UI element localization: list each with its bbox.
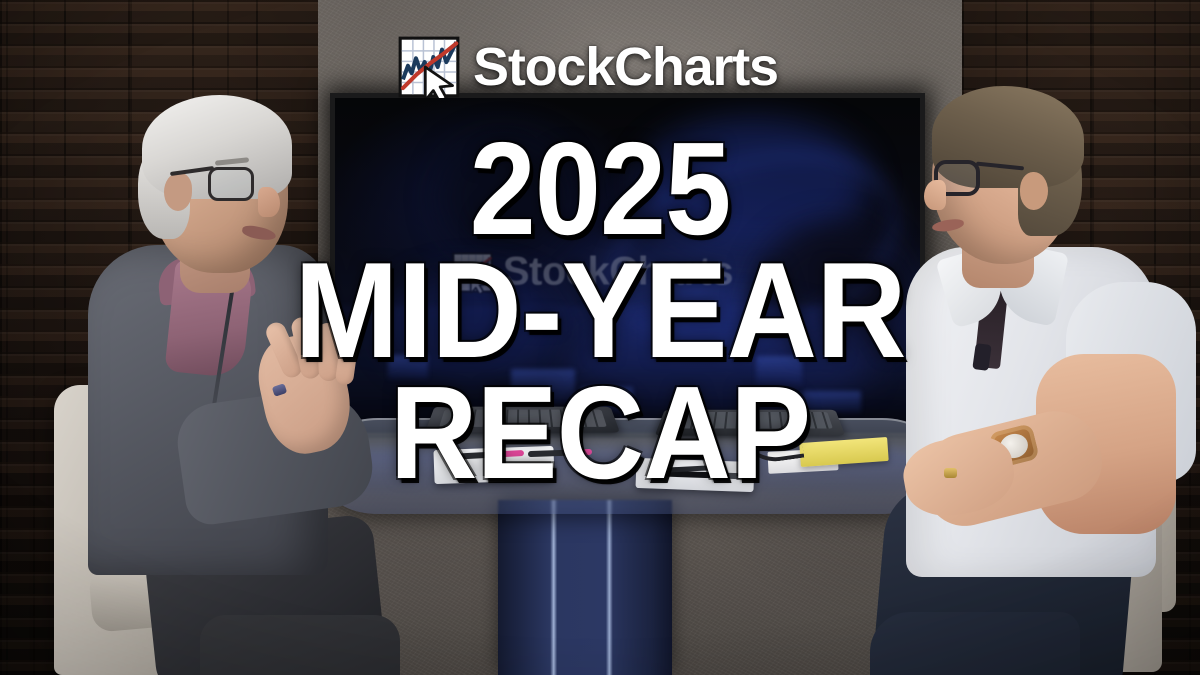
leg2-right-person: [870, 612, 1080, 675]
video-thumbnail-stage: StockCharts: [0, 0, 1200, 675]
glasses-lens-left: [208, 167, 254, 201]
ear-right: [1020, 172, 1048, 210]
stockcharts-logo-icon: [398, 36, 460, 98]
stockcharts-brand-lockup: StockCharts: [398, 36, 778, 98]
finger: [335, 334, 360, 386]
nose-left: [258, 187, 280, 217]
leg2-left-person: [200, 615, 400, 675]
wall-mounted-tv: StockCharts: [330, 93, 925, 438]
person-host-left: [30, 95, 360, 675]
screen-blur-blob: [440, 138, 570, 258]
wedding-ring: [944, 468, 957, 478]
person-guest-right: [870, 92, 1200, 675]
nose-right: [924, 180, 946, 210]
table-pedestal-base: [498, 500, 672, 675]
tv-screen: StockCharts: [335, 98, 920, 433]
laptop-left-keyboard: [439, 410, 607, 427]
stockcharts-logo-icon: [452, 251, 494, 293]
screen-monitor-blur: [756, 356, 802, 386]
screen-monitor-blur: [511, 369, 575, 403]
screen-watermark-text: StockCharts: [503, 250, 733, 295]
ear-left: [164, 173, 192, 211]
screen-stockcharts-watermark: StockCharts: [452, 250, 733, 295]
brand-name: StockCharts: [473, 40, 778, 94]
screen-monitor-blur: [388, 355, 428, 379]
